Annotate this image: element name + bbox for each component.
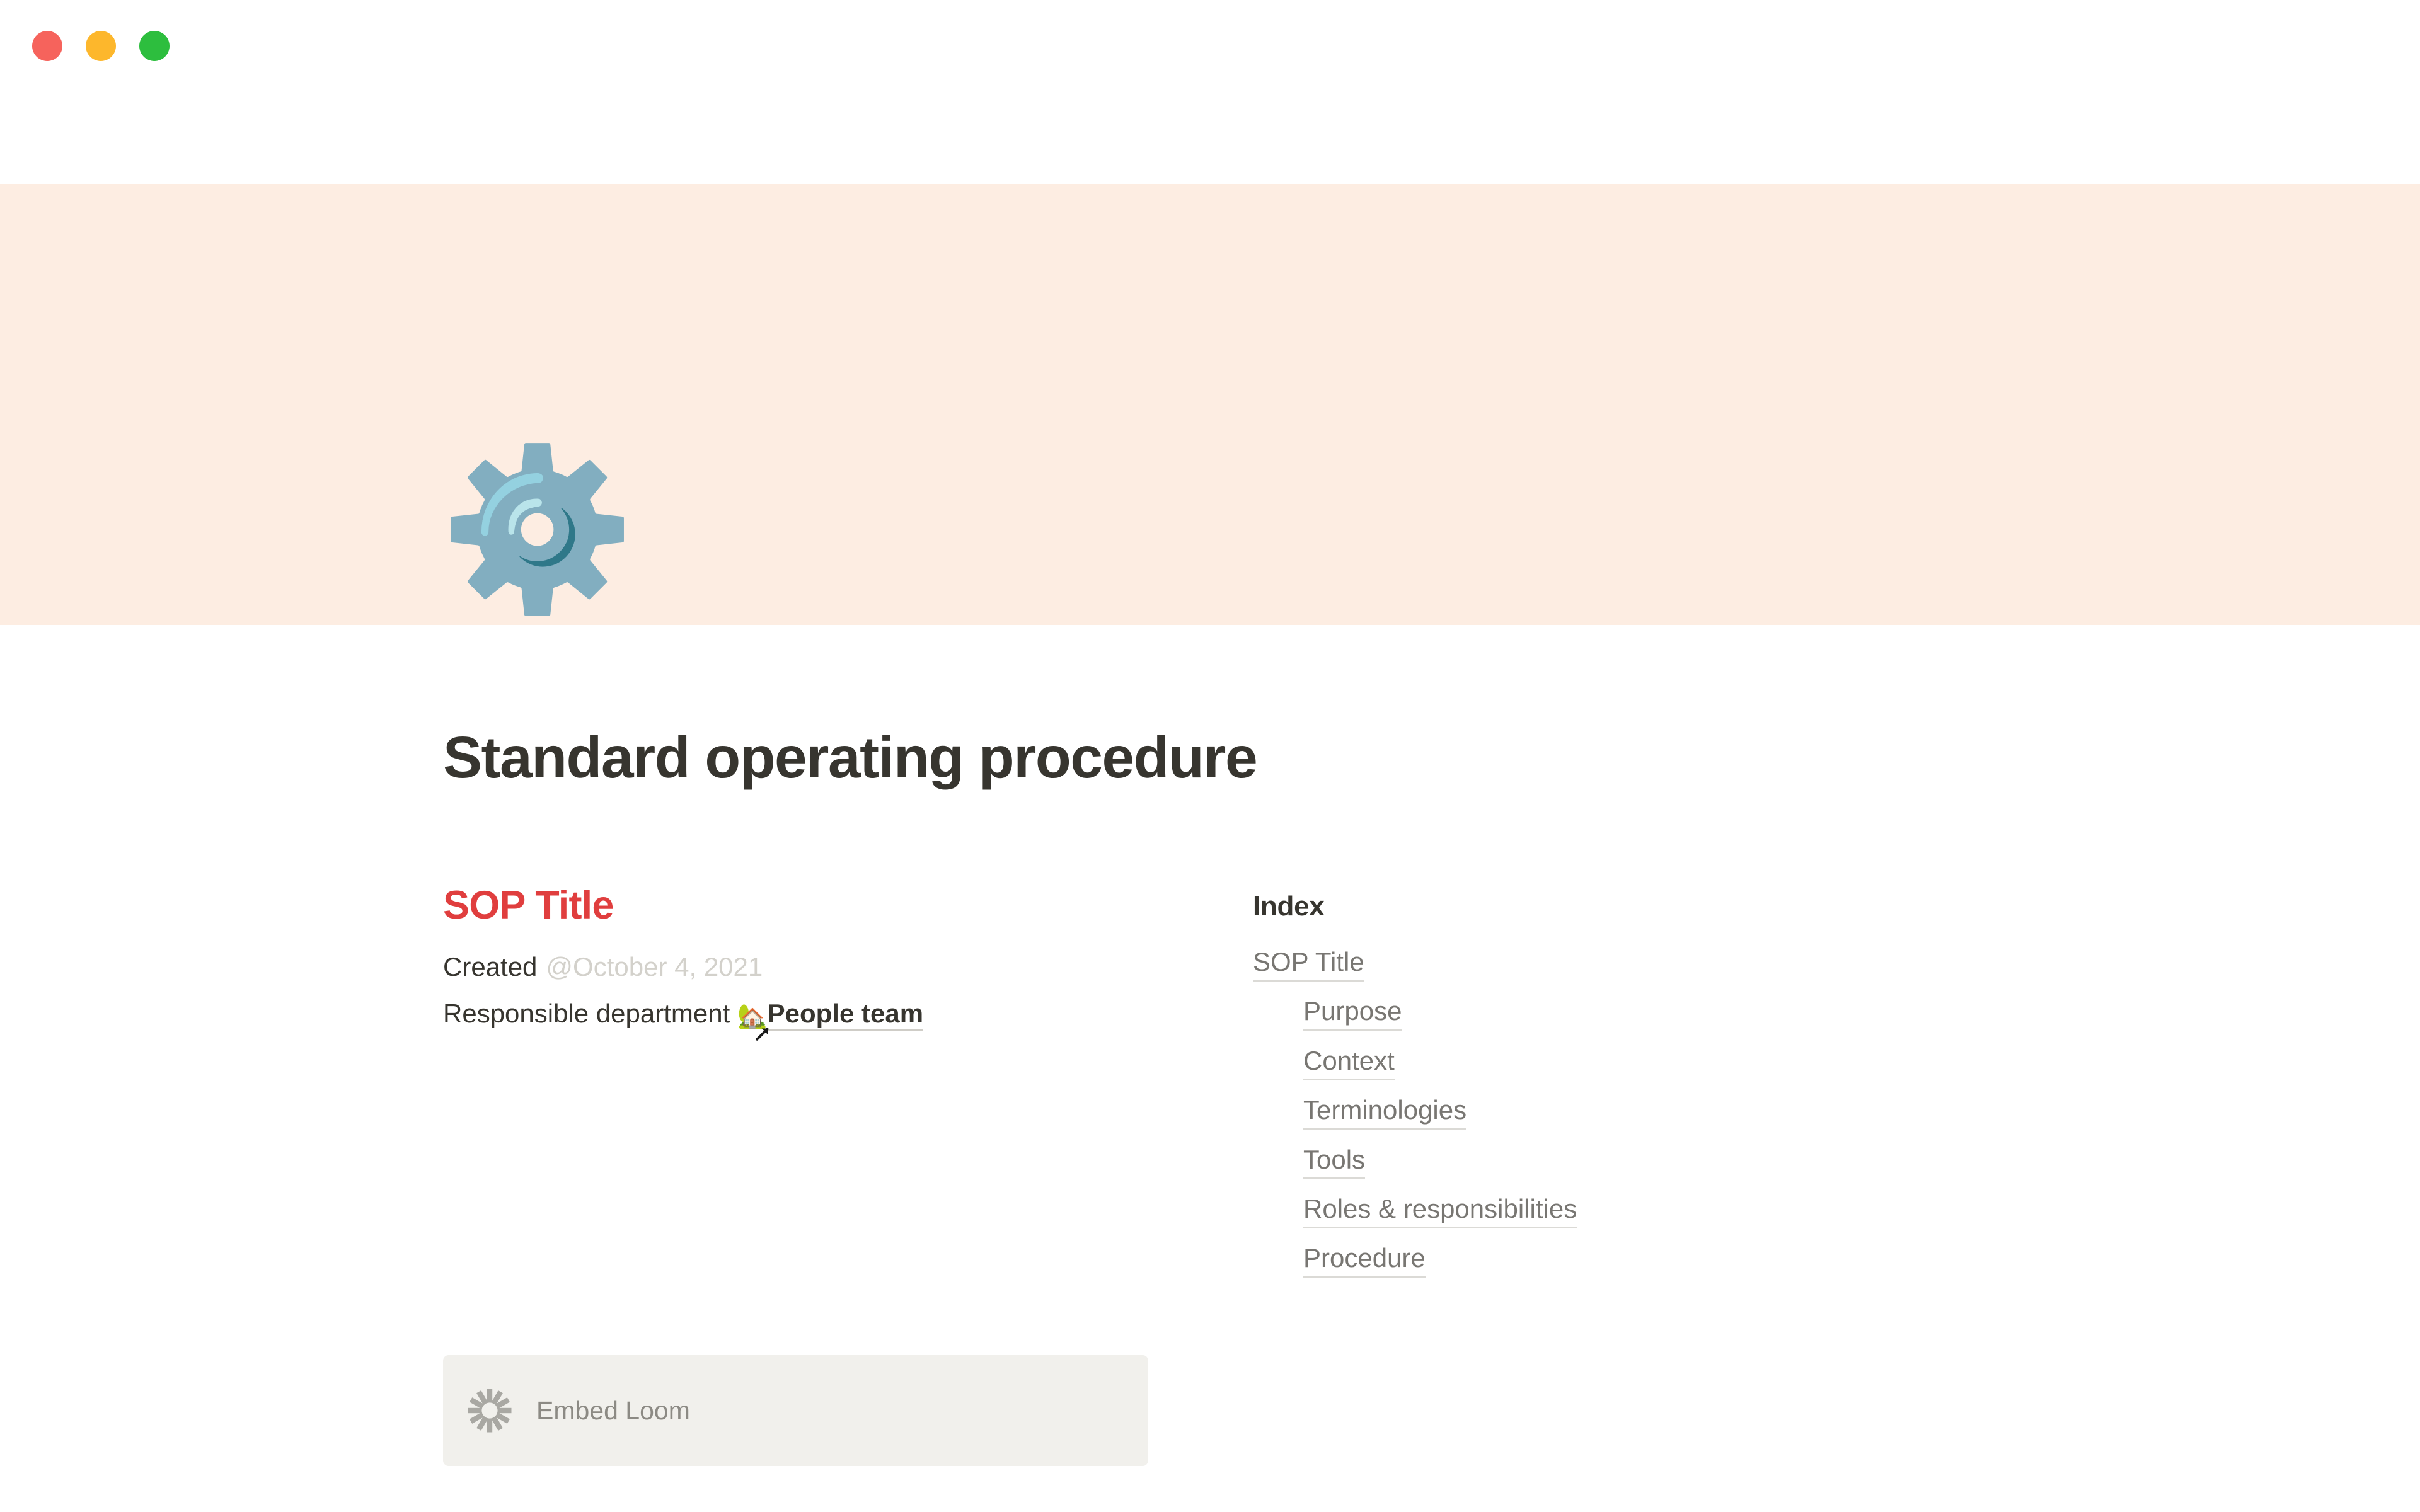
people-team-label: People team — [768, 999, 923, 1031]
toc-link-roles-responsibilities[interactable]: Roles & responsibilities — [1303, 1193, 1577, 1228]
maximize-window-button[interactable] — [139, 31, 170, 61]
sop-title-heading[interactable]: SOP Title — [443, 883, 1155, 928]
loom-icon — [467, 1388, 512, 1433]
traffic-light-group — [32, 31, 170, 61]
index-panel: Index SOP TitlePurposeContextTerminologi… — [1253, 891, 1965, 1292]
page-cover-banner[interactable] — [0, 184, 2420, 625]
index-heading: Index — [1253, 891, 1965, 922]
minimize-window-button[interactable] — [86, 31, 116, 61]
left-content-column: SOP Title Created@October 4, 2021 Respon… — [443, 883, 1155, 1041]
toc-link-context[interactable]: Context — [1303, 1045, 1395, 1080]
toc-link-procedure[interactable]: Procedure — [1303, 1242, 1426, 1278]
toc-row: Terminologies — [1253, 1094, 1965, 1143]
toc-row: Purpose — [1253, 995, 1965, 1045]
created-date-mention[interactable]: @October 4, 2021 — [546, 952, 763, 982]
people-team-page-link[interactable]: 🏡People team — [737, 995, 923, 1033]
window-titlebar — [0, 0, 2420, 92]
toc-link-purpose[interactable]: Purpose — [1303, 995, 1402, 1031]
toc-row: Roles & responsibilities — [1253, 1193, 1965, 1242]
table-of-contents: SOP TitlePurposeContextTerminologiesTool… — [1253, 946, 1965, 1292]
close-window-button[interactable] — [32, 31, 62, 61]
embed-loom-block[interactable]: Embed Loom — [443, 1355, 1148, 1466]
toc-row: Tools — [1253, 1144, 1965, 1193]
document-page: ⚙️ Standard operating procedure SOP Titl… — [0, 92, 2420, 1512]
toc-row: SOP Title — [1253, 946, 1965, 995]
responsible-department-label: Responsible department — [443, 999, 730, 1028]
app-window: ⚙️ Standard operating procedure SOP Titl… — [0, 0, 2420, 1512]
created-row: Created@October 4, 2021 — [443, 948, 1155, 987]
responsible-department-row: Responsible department🏡People team — [443, 995, 1155, 1033]
page-title[interactable]: Standard operating procedure — [443, 727, 2082, 789]
created-label: Created — [443, 952, 537, 982]
embed-loom-label: Embed Loom — [536, 1396, 690, 1426]
toc-link-tools[interactable]: Tools — [1303, 1144, 1365, 1179]
toc-link-sop-title[interactable]: SOP Title — [1253, 946, 1364, 982]
house-with-garden-emoji-icon: 🏡 — [737, 1004, 767, 1030]
gear-emoji-icon[interactable]: ⚙️ — [439, 441, 616, 617]
toc-row: Procedure — [1253, 1242, 1965, 1291]
toc-row: Context — [1253, 1045, 1965, 1094]
toc-link-terminologies[interactable]: Terminologies — [1303, 1094, 1466, 1130]
